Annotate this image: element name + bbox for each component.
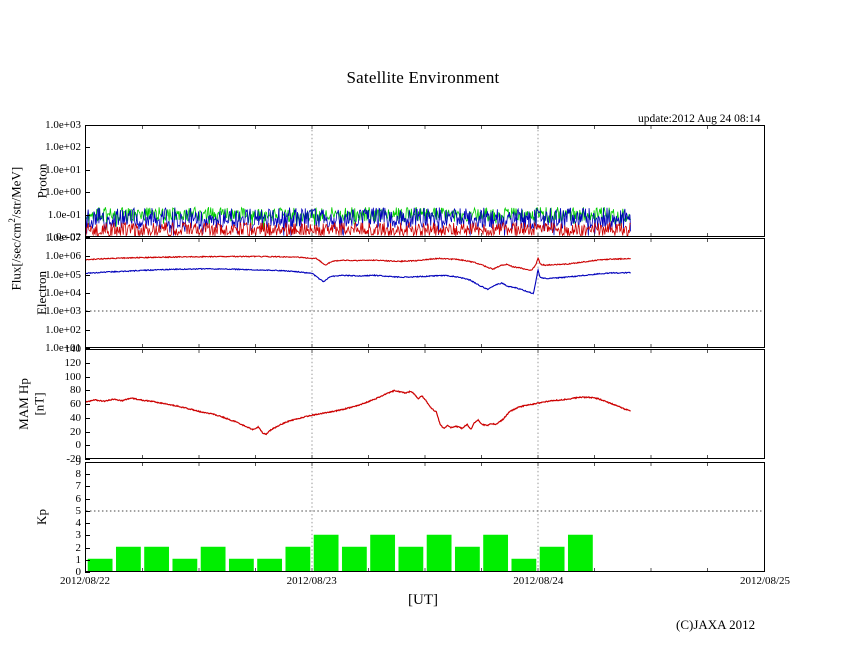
proton-ytick: 1.0e+00 — [0, 186, 81, 198]
kp-bar — [229, 559, 253, 571]
electron-tickmark — [85, 311, 90, 312]
proton-tickmark — [85, 147, 90, 148]
x-tick-label: 2012/08/23 — [287, 575, 337, 587]
copyright-notice: (C)JAXA 2012 — [676, 617, 755, 633]
panel-electron — [85, 238, 765, 348]
kp-ytick: 5 — [0, 505, 81, 517]
kp-bar — [173, 559, 197, 571]
x-tick-label: 2012/08/24 — [513, 575, 563, 587]
kp-tickmark — [85, 548, 90, 549]
kp-tickmark — [85, 560, 90, 561]
kp-ytick: 6 — [0, 493, 81, 505]
kp-tickmark — [85, 499, 90, 500]
mam-tickmark — [85, 349, 90, 350]
plot-area-electron — [86, 239, 764, 347]
kp-bar — [314, 535, 338, 571]
proton-tickmark — [85, 192, 90, 193]
mam-ytick: 0 — [0, 439, 81, 451]
electron-ytick: 1.0e+06 — [0, 250, 81, 262]
x-axis-label: [UT] — [0, 592, 846, 609]
electron-tickmark — [85, 275, 90, 276]
proton-tickmark — [85, 125, 90, 126]
kp-bar — [399, 547, 423, 571]
mam-ytick: 140 — [0, 343, 81, 355]
mam-tickmark — [85, 418, 90, 419]
kp-ytick: 8 — [0, 468, 81, 480]
proton-ytick: 1.0e+03 — [0, 119, 81, 131]
kp-ytick: 7 — [0, 480, 81, 492]
kp-bar — [257, 559, 281, 571]
mam-ytick: 80 — [0, 384, 81, 396]
panel-kp — [85, 462, 765, 572]
kp-bar — [144, 547, 168, 571]
mam-tickmark — [85, 404, 90, 405]
electron-red — [86, 256, 631, 270]
mam-tickmark — [85, 445, 90, 446]
kp-ytick: 9 — [0, 456, 81, 468]
kp-bar — [286, 547, 310, 571]
plot-area-mam-hp — [86, 350, 764, 458]
kp-bar — [483, 535, 507, 571]
electron-ytick: 1.0e+02 — [0, 324, 81, 336]
plot-area-kp — [86, 463, 764, 571]
mam-ytick: 40 — [0, 412, 81, 424]
electron-tickmark — [85, 330, 90, 331]
electron-tickmark — [85, 293, 90, 294]
kp-tickmark — [85, 572, 90, 573]
proton-ytick: 1.0e+02 — [0, 141, 81, 153]
plot-area-proton — [86, 126, 764, 236]
proton-ytick: 1.0e+01 — [0, 164, 81, 176]
mam-tickmark — [85, 432, 90, 433]
electron-tickmark — [85, 238, 90, 239]
electron-blue — [86, 268, 631, 293]
panel-mam-hp — [85, 349, 765, 459]
kp-bar — [427, 535, 451, 571]
kp-tickmark — [85, 462, 90, 463]
electron-ytick: 1.0e+04 — [0, 287, 81, 299]
mam-hp-red — [86, 390, 631, 434]
kp-tickmark — [85, 486, 90, 487]
mam-tickmark — [85, 459, 90, 460]
page-title: Satellite Environment — [0, 68, 846, 88]
kp-tickmark — [85, 474, 90, 475]
electron-tickmark — [85, 256, 90, 257]
kp-tickmark — [85, 511, 90, 512]
kp-ytick: 2 — [0, 542, 81, 554]
kp-bar — [455, 547, 479, 571]
electron-ytick: 1.0e+03 — [0, 305, 81, 317]
kp-tickmark — [85, 535, 90, 536]
update-timestamp: update:2012 Aug 24 08:14 — [638, 113, 760, 125]
kp-bar — [342, 547, 366, 571]
proton-tickmark — [85, 215, 90, 216]
proton-ytick: 1.0e-01 — [0, 209, 81, 221]
kp-ytick: 1 — [0, 554, 81, 566]
kp-bar — [88, 559, 112, 571]
kp-bar — [116, 547, 140, 571]
kp-bar — [540, 547, 564, 571]
chart-canvas: Satellite Environment update:2012 Aug 24… — [0, 0, 846, 655]
mam-ytick: 60 — [0, 398, 81, 410]
kp-bar — [568, 535, 592, 571]
kp-bar — [512, 559, 536, 571]
mam-tickmark — [85, 377, 90, 378]
mam-ytick: 20 — [0, 426, 81, 438]
mam-ytick: 100 — [0, 371, 81, 383]
mam-tickmark — [85, 363, 90, 364]
x-tick-label: 2012/08/22 — [60, 575, 110, 587]
kp-bar — [370, 535, 394, 571]
mam-ytick: 120 — [0, 357, 81, 369]
panel-proton — [85, 125, 765, 237]
kp-ytick: 3 — [0, 529, 81, 541]
proton-tickmark — [85, 170, 90, 171]
mam-tickmark — [85, 390, 90, 391]
electron-ytick: 1.0e+07 — [0, 232, 81, 244]
electron-ytick: 1.0e+05 — [0, 269, 81, 281]
kp-bar — [201, 547, 225, 571]
x-tick-label: 2012/08/25 — [740, 575, 790, 587]
kp-ytick: 4 — [0, 517, 81, 529]
kp-tickmark — [85, 523, 90, 524]
